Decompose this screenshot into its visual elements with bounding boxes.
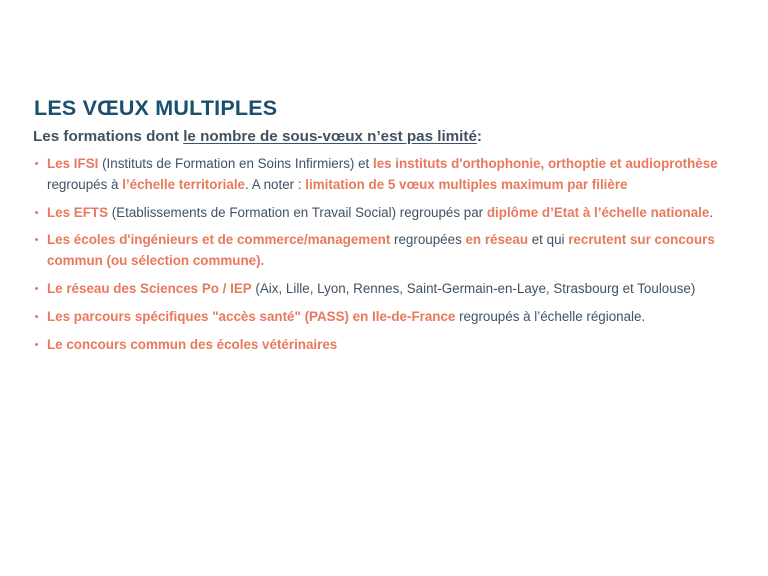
bullet-text-run: Les écoles d'ingénieurs et de commerce/m…	[47, 232, 390, 247]
bullet-item-efts: Les EFTS (Etablissements de Formation en…	[33, 203, 733, 224]
bullet-text-run: regroupées	[390, 232, 465, 247]
subtitle-lead: Les formations dont	[33, 128, 183, 145]
bullet-text-run: regroupés à	[47, 177, 122, 192]
bullet-text-run: en réseau	[465, 232, 528, 247]
bullet-item-pass: Les parcours spécifiques "accès santé" (…	[33, 307, 733, 328]
bullet-text-run: Les IFSI	[47, 156, 98, 171]
bullet-list: Les IFSI (Instituts de Formation en Soin…	[33, 154, 733, 362]
bullet-dot-icon	[35, 315, 38, 318]
bullet-text-run: l’échelle territoriale	[122, 177, 245, 192]
bullet-text-run: (Instituts de Formation en Soins Infirmi…	[98, 156, 373, 171]
bullet-dot-icon	[35, 211, 38, 214]
bullet-item-sciences-po: Le réseau des Sciences Po / IEP (Aix, Li…	[33, 279, 733, 300]
page-title: LES VŒUX MULTIPLES	[34, 97, 277, 121]
bullet-text-run: et qui	[528, 232, 568, 247]
bullet-text-run: Les parcours spécifiques "accès santé" (…	[47, 309, 455, 324]
bullet-dot-icon	[35, 238, 38, 241]
bullet-text-run: (Aix, Lille, Lyon, Rennes, Saint-Germain…	[252, 281, 696, 296]
bullet-text-run: les instituts d'orthophonie, orthoptie e…	[373, 156, 718, 171]
bullet-text-run: limitation de 5 vœux multiples maximum p…	[305, 177, 627, 192]
bullet-item-ifsi: Les IFSI (Instituts de Formation en Soin…	[33, 154, 733, 196]
bullet-text-run: Le concours commun des écoles vétérinair…	[47, 337, 337, 352]
bullet-text-run: .	[709, 205, 713, 220]
subtitle-underlined: le nombre de sous-vœux n’est pas limité	[183, 128, 477, 145]
bullet-text-run: diplôme d’Etat à l’échelle nationale	[487, 205, 710, 220]
bullet-item-ecoles-ingenieurs: Les écoles d'ingénieurs et de commerce/m…	[33, 230, 733, 272]
bullet-dot-icon	[35, 287, 38, 290]
bullet-text-run: Les EFTS	[47, 205, 108, 220]
bullet-text-run: (Etablissements de Formation en Travail …	[108, 205, 487, 220]
slide-subtitle: Les formations dont le nombre de sous-vœ…	[33, 127, 482, 146]
slide-canvas: LES VŒUX MULTIPLES Les formations dont l…	[0, 0, 768, 576]
bullet-item-veterinaires: Le concours commun des écoles vétérinair…	[33, 335, 733, 356]
bullet-text-run: Le réseau des Sciences Po / IEP	[47, 281, 252, 296]
bullet-dot-icon	[35, 162, 38, 165]
bullet-dot-icon	[35, 343, 38, 346]
bullet-text-run: regroupés à l’échelle régionale.	[455, 309, 645, 324]
subtitle-trail: :	[477, 128, 482, 145]
bullet-text-run: . A noter :	[245, 177, 305, 192]
